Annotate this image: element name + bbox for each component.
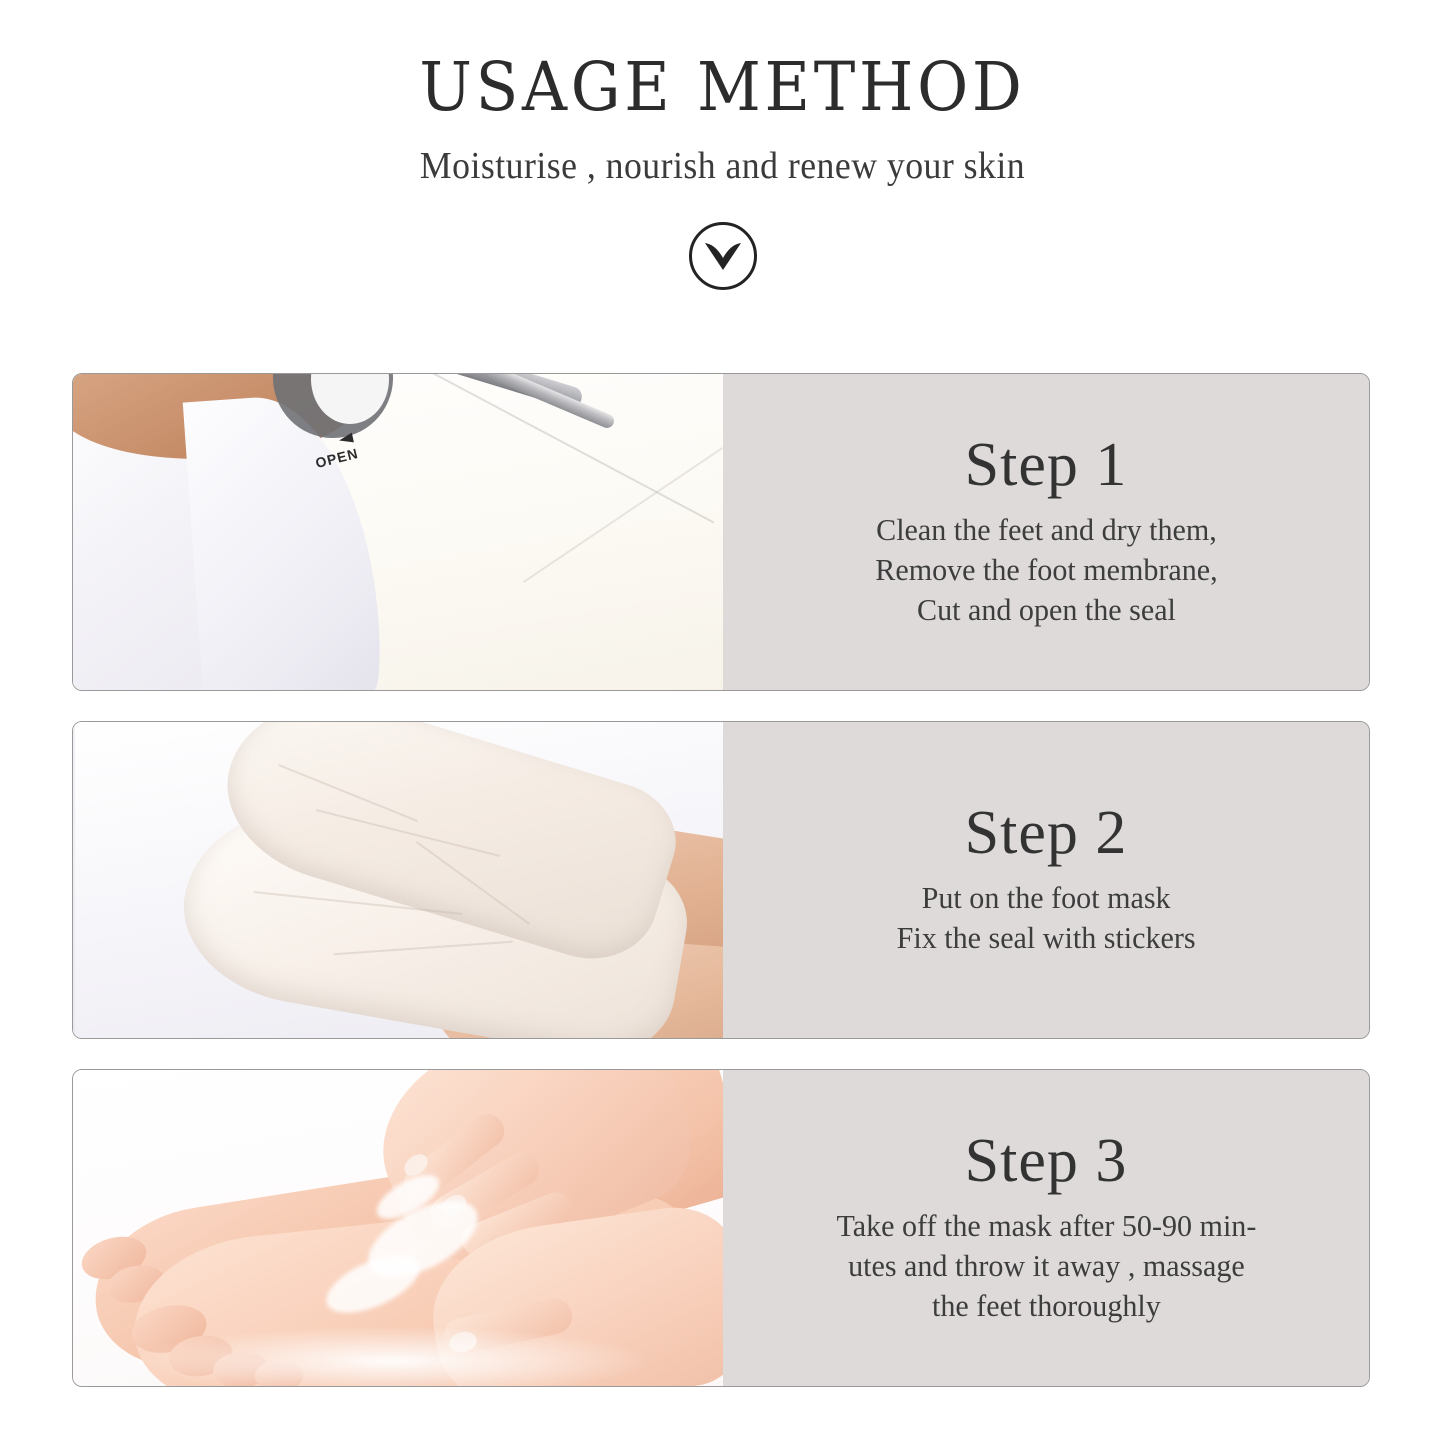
chevron-down-circle-icon <box>689 222 757 290</box>
step-1-photo: OPEN <box>73 374 723 690</box>
step-3-line-1: Take off the mask after 50-90 min- <box>836 1206 1256 1246</box>
step-card-3: Step 3 Take off the mask after 50-90 min… <box>72 1069 1370 1387</box>
step-3-photo <box>73 1070 723 1386</box>
step-2-panel: Step 2 Put on the foot mask Fix the seal… <box>723 722 1369 1038</box>
page-title: USAGE METHOD <box>51 52 1395 122</box>
step-1-description: Clean the feet and dry them, Remove the … <box>875 510 1217 629</box>
step-1-line-1: Clean the feet and dry them, <box>875 510 1217 550</box>
arrow-divider <box>0 222 1445 290</box>
step-2-line-2: Fix the seal with stickers <box>896 918 1195 958</box>
page-subtitle: Moisturise , nourish and renew your skin <box>43 144 1401 188</box>
step-2-photo <box>73 722 723 1038</box>
step-3-panel: Step 3 Take off the mask after 50-90 min… <box>723 1070 1369 1386</box>
step-3-description: Take off the mask after 50-90 min- utes … <box>836 1206 1256 1325</box>
steps-list: OPEN Step 1 Clean the feet and dry them,… <box>72 373 1370 1387</box>
step-1-line-2: Remove the foot membrane, <box>875 550 1217 590</box>
step-2-line-1: Put on the foot mask <box>896 878 1195 918</box>
step-3-line-2: utes and throw it away , massage <box>836 1246 1256 1286</box>
step-card-1: OPEN Step 1 Clean the feet and dry them,… <box>72 373 1370 691</box>
header: USAGE METHOD Moisturise , nourish and re… <box>0 0 1445 188</box>
step-1-panel: Step 1 Clean the feet and dry them, Remo… <box>723 374 1369 690</box>
step-1-line-3: Cut and open the seal <box>875 590 1217 630</box>
usage-method-infographic: USAGE METHOD Moisturise , nourish and re… <box>0 0 1445 1445</box>
step-2-title: Step 2 <box>965 802 1128 864</box>
step-2-description: Put on the foot mask Fix the seal with s… <box>896 878 1195 957</box>
step-card-2: Step 2 Put on the foot mask Fix the seal… <box>72 721 1370 1039</box>
step-3-title: Step 3 <box>965 1130 1128 1192</box>
step-1-title: Step 1 <box>965 434 1128 496</box>
step-3-line-3: the feet thoroughly <box>836 1286 1256 1326</box>
